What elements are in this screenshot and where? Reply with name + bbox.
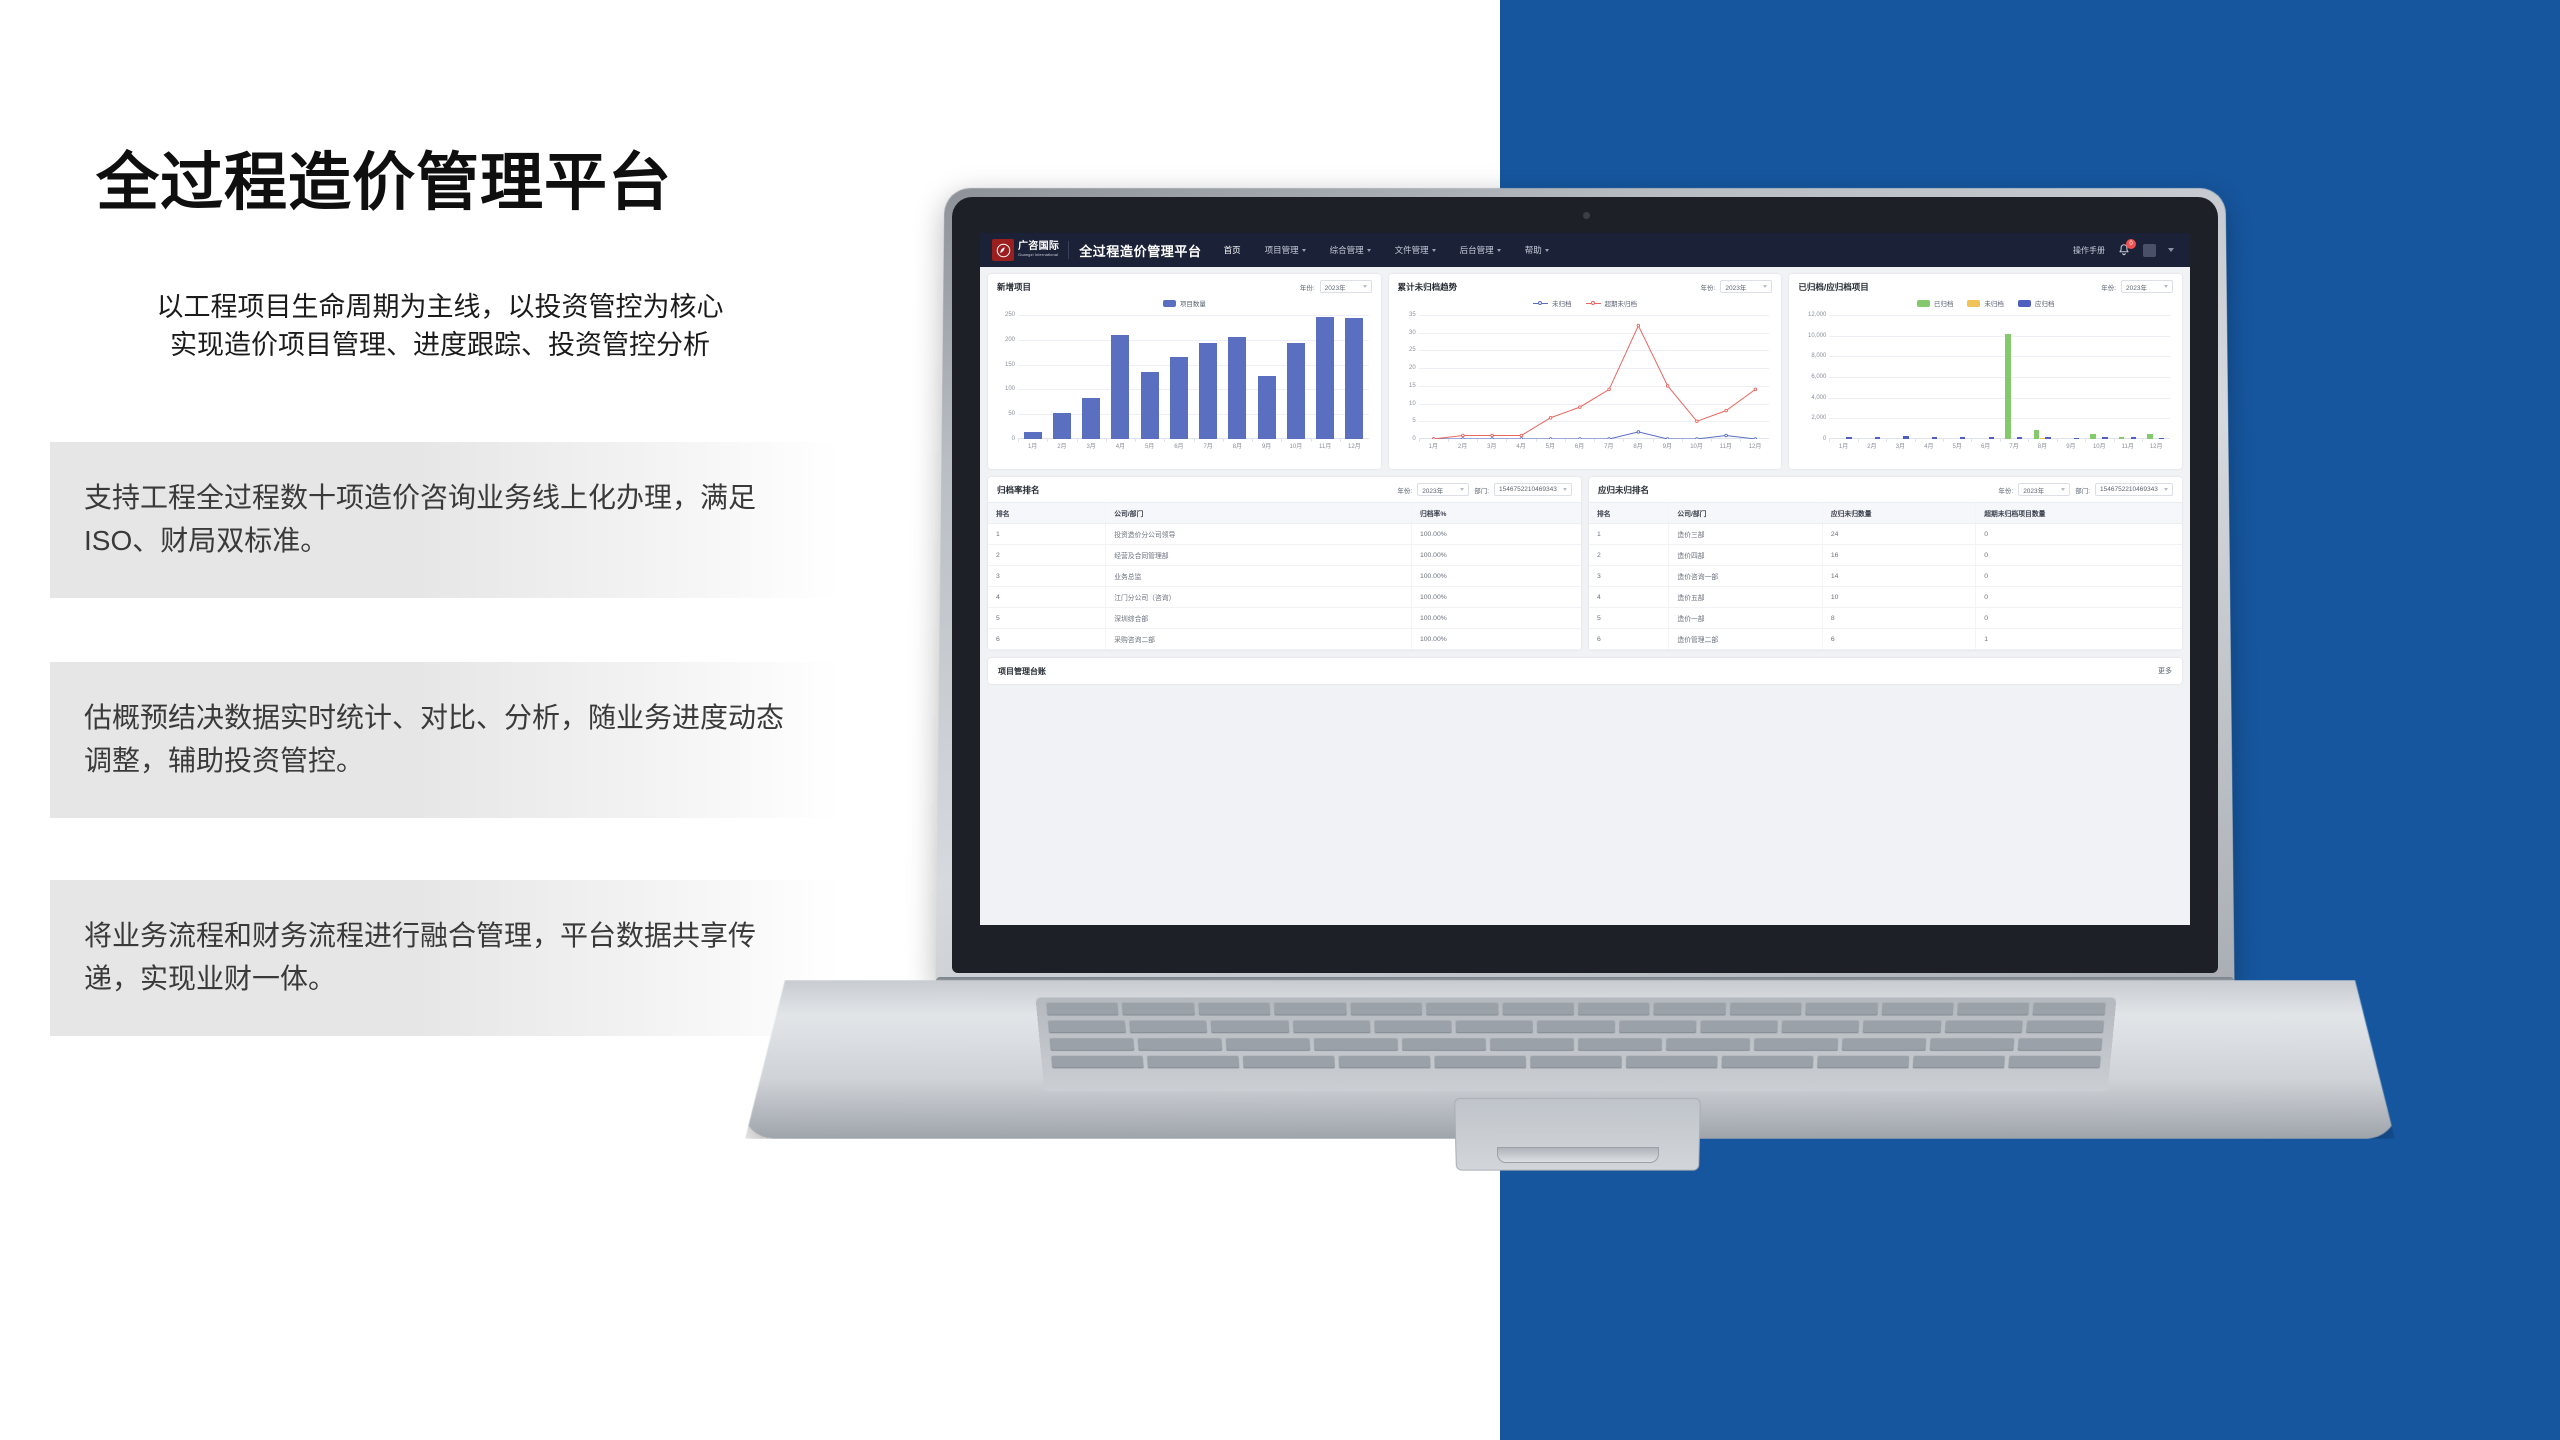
table-cell: 4	[988, 587, 1106, 608]
x-axis-tickmark	[2114, 439, 2115, 442]
x-axis-tickmark	[1915, 439, 1916, 442]
key	[1805, 1003, 1877, 1016]
key	[1274, 1003, 1346, 1016]
x-axis-tick-label: 8月	[1233, 441, 1242, 450]
dept-filter-label: 部门:	[2075, 485, 2090, 495]
table-cell: 24	[1822, 524, 1975, 545]
x-axis-tick-label: 10月	[2093, 441, 2106, 450]
table-row[interactable]: 1造价三部240	[1589, 524, 2182, 545]
nav-item-comprehensive-management[interactable]: 综合管理	[1330, 244, 1371, 256]
bar	[2147, 434, 2152, 439]
notifications-button[interactable]: 0	[2117, 243, 2131, 257]
bar	[2102, 437, 2107, 439]
table-column-header: 排名	[1589, 503, 1669, 524]
x-axis-tick-label: 6月	[1174, 441, 1183, 450]
gridline	[1829, 336, 2170, 337]
x-axis-tickmark	[1106, 439, 1107, 442]
feature-text-3: 将业务流程和财务流程进行融合管理，平台数据共享传递，实现业财一体。	[50, 915, 840, 1000]
x-axis-tick-label: 12月	[2150, 441, 2163, 450]
x-axis-tickmark	[1252, 439, 1253, 442]
y-axis-tick-label: 250	[1005, 312, 1018, 318]
key	[1314, 1038, 1399, 1051]
key	[2018, 1038, 2103, 1051]
table-cell: 江门分公司（咨询）	[1106, 587, 1412, 608]
laptop-mockup: 广咨国际 Guangzi International 全过程造价管理平台 首页 …	[740, 185, 2400, 1245]
notification-count-badge: 0	[2126, 239, 2136, 249]
table-cell: 经营及合同管理部	[1106, 545, 1412, 566]
x-axis-tickmark	[1858, 439, 1859, 442]
table-cell: 1	[988, 524, 1106, 545]
key	[1730, 1003, 1802, 1016]
year-select[interactable]: 2023年	[2018, 483, 2070, 496]
x-axis-tickmark	[1565, 439, 1566, 442]
x-axis-tick-label: 6月	[1981, 441, 1990, 450]
table-cell: 3	[988, 566, 1106, 587]
x-axis-tickmark	[1223, 439, 1224, 442]
table-cell: 5	[988, 608, 1106, 629]
bar	[1989, 437, 1994, 439]
keyboard-row	[1036, 1003, 2116, 1016]
key	[1957, 1003, 2030, 1016]
table-cell: 业务总监	[1106, 566, 1412, 587]
bar	[1875, 437, 1880, 439]
key	[1129, 1020, 1207, 1033]
chevron-down-icon[interactable]	[2168, 248, 2174, 252]
x-axis-tickmark	[1594, 439, 1595, 442]
key	[1147, 1056, 1240, 1069]
keyboard-row	[1038, 1020, 2115, 1033]
dept-select[interactable]: 1546752210469343885	[2095, 483, 2173, 496]
x-axis-tickmark	[1135, 439, 1136, 442]
key	[1456, 1020, 1534, 1033]
legend-item-due-to-archive[interactable]: 应归档	[2018, 298, 2055, 308]
table-cell: 造价咨询一部	[1669, 566, 1822, 587]
dept-select[interactable]: 1546752210469343885	[1494, 483, 1572, 496]
table-cell: 16	[1822, 545, 1975, 566]
table-due-unarchived-ranking: 排名公司/部门应归未归数量超期未归档项目数量1造价三部2402造价四部1603造…	[1589, 502, 2182, 650]
x-axis-tickmark	[1886, 439, 1887, 442]
y-axis-tick-label: 150	[1005, 362, 1018, 368]
key	[1721, 1056, 1813, 1069]
nav-item-home-label: 首页	[1224, 244, 1241, 256]
table-cell: 3	[1589, 566, 1669, 587]
gridline	[1018, 315, 1369, 316]
x-axis-tickmark	[1419, 439, 1420, 442]
table-column-header: 归档率%	[1411, 503, 1581, 524]
card-archived-vs-due-header: 已归档/应归档项目 年份: 2023年	[1789, 274, 2182, 295]
x-axis-tick-label: 10月	[1290, 441, 1303, 450]
table-row[interactable]: 5深圳综合部100.00%	[988, 608, 1581, 629]
x-axis-tickmark	[1047, 439, 1048, 442]
nav-item-help[interactable]: 帮助	[1525, 244, 1549, 256]
key	[1863, 1020, 1941, 1033]
bar	[1345, 318, 1363, 439]
x-axis-tick-label: 10月	[1690, 441, 1703, 450]
brand-divider	[1068, 241, 1069, 259]
nav-item-comprehensive-management-label: 综合管理	[1330, 244, 1364, 256]
table-cell: 造价四部	[1669, 545, 1822, 566]
table-row[interactable]: 6采购咨询二部100.00%	[988, 629, 1581, 650]
key	[1426, 1003, 1498, 1016]
legend-label: 应归档	[2035, 298, 2055, 308]
key	[1046, 1003, 1119, 1016]
key	[1881, 1003, 1954, 1016]
key	[2008, 1056, 2101, 1069]
x-axis-tick-label: 6月	[1575, 441, 1584, 450]
page-title: 全过程造价管理平台	[96, 132, 672, 223]
y-axis-tick-label: 20	[1409, 365, 1419, 371]
x-axis-tickmark	[1018, 439, 1019, 442]
bar	[2074, 438, 2079, 439]
table-cell: 1	[1976, 629, 2182, 650]
x-axis-tickmark	[1943, 439, 1944, 442]
table-cell: 8	[1822, 608, 1975, 629]
y-axis-tick-label: 10,000	[1808, 333, 1829, 339]
chevron-down-icon	[1497, 249, 1501, 252]
card-new-projects: 新增项目 年份: 2023年 项目数量	[988, 274, 1381, 469]
year-filter-label: 年份:	[1397, 485, 1412, 495]
key	[1754, 1038, 1839, 1051]
subtitle-line-2: 实现造价项目管理、进度跟踪、投资管控分析	[60, 326, 820, 364]
x-axis-tickmark	[1311, 439, 1312, 442]
front-notch	[1497, 1147, 1659, 1163]
table-cell: 投资造价分公司领导	[1106, 524, 1412, 545]
x-axis-tickmark	[1077, 439, 1078, 442]
line-chart-unarchived-trend: 051015202530351月2月3月4月5月6月7月8月9月10月11月12…	[1419, 315, 1770, 439]
legend-swatch	[2018, 300, 2031, 307]
bar	[2005, 334, 2010, 439]
chevron-down-icon	[1563, 488, 1567, 491]
key	[1049, 1038, 1134, 1051]
more-link[interactable]: 更多	[2158, 666, 2172, 676]
y-axis-tick-label: 2,000	[1811, 415, 1829, 421]
x-axis-tick-label: 11月	[1319, 441, 1331, 450]
key	[2033, 1003, 2106, 1016]
card-due-unarchived-ranking-header: 应归未归排名 年份: 2023年 部门: 1546752210469343885	[1589, 477, 2182, 502]
card-project-ledger-title: 项目管理台账	[998, 666, 1046, 677]
x-axis-tickmark	[2057, 439, 2058, 442]
card-archived-vs-due-title: 已归档/应归档项目	[1798, 281, 1868, 293]
table-row[interactable]: 2经营及合同管理部100.00%	[988, 545, 1581, 566]
legend-item-unarchived[interactable]: 未归档	[1967, 298, 2004, 308]
table-cell: 6	[1589, 629, 1669, 650]
year-select-value: 2023年	[2023, 485, 2044, 495]
key	[1626, 1056, 1718, 1069]
bar	[2131, 437, 2136, 439]
subtitle-line-1: 以工程项目生命周期为主线，以投资管控为核心	[60, 288, 820, 326]
x-axis-tickmark	[1653, 439, 1654, 442]
legend-label: 未归档	[1552, 298, 1572, 308]
table-cell: 0	[1976, 608, 2182, 629]
keyboard-row	[1041, 1056, 2111, 1069]
table-cell: 6	[1822, 629, 1975, 650]
key	[1292, 1020, 1370, 1033]
table-cell: 4	[1589, 587, 1669, 608]
nav-item-help-label: 帮助	[1525, 244, 1542, 256]
y-axis-tick-label: 8,000	[1811, 353, 1829, 359]
key	[1578, 1038, 1662, 1051]
table-row[interactable]: 1投资造价分公司领导100.00%	[988, 524, 1581, 545]
legend-item-unarchived[interactable]: 未归档	[1533, 298, 1572, 308]
manual-link[interactable]: 操作手册	[2073, 245, 2105, 256]
gridline	[1829, 398, 2170, 399]
x-axis-tick-label: 4月	[1116, 441, 1125, 450]
table-row[interactable]: 2造价四部160	[1589, 545, 2182, 566]
x-axis-tick-label: 5月	[1953, 441, 1962, 450]
bar	[1960, 437, 1965, 439]
feature-text-1: 支持工程全过程数十项造价咨询业务线上化办理，满足ISO、财局双标准。	[50, 477, 840, 562]
year-select[interactable]: 2023年	[1320, 280, 1372, 293]
x-axis-tickmark	[1711, 439, 1712, 442]
x-axis-tick-label: 7月	[1203, 441, 1212, 450]
key	[1578, 1003, 1650, 1016]
legend-item-project-count[interactable]: 项目数量	[1163, 298, 1206, 308]
key	[1338, 1056, 1430, 1069]
key	[1048, 1020, 1127, 1033]
legend-item-overdue-unarchived[interactable]: 超期未归档	[1586, 298, 1638, 308]
x-axis-tick-label: 12月	[1348, 441, 1361, 450]
year-select[interactable]: 2023年	[2121, 280, 2173, 293]
table-cell: 0	[1976, 587, 2182, 608]
legend-label: 超期未归档	[1605, 298, 1638, 308]
bar-chart-new-projects: 0501001502002501月2月3月4月5月6月7月8月9月10月11月1…	[1018, 315, 1369, 439]
card-archive-rate-ranking-header: 归档率排名 年份: 2023年 部门: 1546752210469343885	[988, 477, 1581, 502]
x-axis-tick-label: 4月	[1516, 441, 1525, 450]
card-archived-vs-due: 已归档/应归档项目 年份: 2023年 已归档	[1789, 274, 2182, 469]
nav-item-backend-management[interactable]: 后台管理	[1460, 244, 1501, 256]
key	[2026, 1020, 2105, 1033]
table-cell: 0	[1976, 545, 2182, 566]
brand-name-en: Guangzi International	[1018, 253, 1059, 257]
y-axis-tick-label: 200	[1005, 337, 1018, 343]
x-axis-tickmark	[1164, 439, 1165, 442]
bar	[1287, 343, 1305, 439]
table-cell: 2	[1589, 545, 1669, 566]
nav-item-project-management[interactable]: 项目管理	[1265, 244, 1306, 256]
legend-swatch	[1967, 300, 1980, 307]
legend-label: 未归档	[1984, 298, 2004, 308]
bar	[2090, 434, 2095, 439]
dept-select-value: 1546752210469343885	[2100, 486, 2158, 493]
y-axis-tick-label: 100	[1005, 386, 1018, 392]
card-new-projects-filters: 年份: 2023年	[1300, 280, 1372, 293]
table-cell: 100.00%	[1411, 566, 1581, 587]
key	[1913, 1056, 2006, 1069]
x-axis-tick-label: 5月	[1546, 441, 1555, 450]
keyboard-row	[1039, 1038, 2112, 1051]
app-navbar: 广咨国际 Guangzi International 全过程造价管理平台 首页 …	[980, 233, 2190, 267]
keyboard	[1036, 998, 2117, 1092]
bar	[2034, 430, 2039, 439]
legend-label: 项目数量	[1180, 298, 1206, 308]
chevron-down-icon	[1432, 249, 1436, 252]
table-cell: 6	[988, 629, 1106, 650]
card-unarchived-trend-header: 累计未归档趋势 年份: 2023年	[1389, 274, 1782, 295]
chevron-down-icon	[1367, 249, 1371, 252]
webcam-icon	[1583, 212, 1590, 219]
card-archive-rate-ranking-title: 归档率排名	[997, 484, 1040, 496]
x-axis-tick-label: 1月	[1429, 441, 1438, 450]
chevron-down-icon	[1302, 249, 1306, 252]
card-unarchived-trend-legend: 未归档 超期未归档	[1389, 295, 1782, 309]
gridline	[1829, 377, 2170, 378]
bar-chart-archived-vs-due: 02,0004,0006,0008,00010,00012,0001月2月3月4…	[1829, 315, 2170, 439]
year-select-value: 2023年	[1422, 485, 1443, 495]
table-row[interactable]: 5造价一部80	[1589, 608, 2182, 629]
nav-item-file-management[interactable]: 文件管理	[1395, 244, 1436, 256]
bar	[1258, 376, 1276, 439]
key	[1350, 1003, 1422, 1016]
table-cell: 5	[1589, 608, 1669, 629]
table-row[interactable]: 3业务总监100.00%	[988, 566, 1581, 587]
navbar-right-group: 操作手册 0	[2073, 243, 2178, 257]
x-axis-tick-label: 7月	[1604, 441, 1613, 450]
dashboard-body: 新增项目 年份: 2023年 项目数量	[980, 267, 2190, 691]
y-axis-tick-label: 15	[1409, 383, 1419, 389]
app-screen: 广咨国际 Guangzi International 全过程造价管理平台 首页 …	[980, 233, 2190, 925]
bar	[2045, 437, 2050, 439]
gridline	[1829, 315, 2170, 316]
table-header-row: 排名公司/部门应归未归数量超期未归档项目数量	[1589, 503, 2182, 524]
key	[1198, 1003, 1271, 1016]
x-axis-tickmark	[2000, 439, 2001, 442]
x-axis-tickmark	[1281, 439, 1282, 442]
x-axis-tickmark	[1623, 439, 1624, 442]
nav-item-backend-management-label: 后台管理	[1460, 244, 1494, 256]
x-axis-tick-label: 11月	[2122, 441, 2134, 450]
table-cell: 100.00%	[1411, 587, 1581, 608]
table-cell: 100.00%	[1411, 608, 1581, 629]
key	[1374, 1020, 1452, 1033]
table-cell: 14	[1822, 566, 1975, 587]
year-filter-label: 年份:	[1701, 282, 1716, 292]
card-new-projects-legend: 项目数量	[988, 295, 1381, 309]
card-unarchived-trend-filters: 年份: 2023年	[1701, 280, 1773, 293]
key	[1490, 1038, 1574, 1051]
x-axis-tick-label: 2月	[1867, 441, 1876, 450]
table-row[interactable]: 6造价管理二部61	[1589, 629, 2182, 650]
key	[1211, 1020, 1289, 1033]
table-cell: 造价一部	[1669, 608, 1822, 629]
key	[1502, 1003, 1574, 1016]
bar	[2119, 437, 2124, 439]
x-axis-tick-label: 4月	[1924, 441, 1933, 450]
card-due-unarchived-ranking: 应归未归排名 年份: 2023年 部门: 1546752210469343885	[1589, 477, 2182, 650]
line-series-group	[1419, 315, 1770, 439]
x-axis-tick-label: 12月	[1749, 441, 1762, 450]
key	[1122, 1003, 1195, 1016]
seal-logo-icon	[992, 239, 1014, 261]
x-axis-tickmark	[1448, 439, 1449, 442]
nav-item-home[interactable]: 首页	[1224, 244, 1241, 256]
x-axis-tickmark	[1682, 439, 1683, 442]
year-select-value: 2023年	[2126, 282, 2147, 292]
card-due-unarchived-ranking-title: 应归未归排名	[1598, 484, 1649, 496]
x-axis-tick-label: 9月	[1262, 441, 1271, 450]
key	[1817, 1056, 1909, 1069]
chevron-down-icon	[1363, 285, 1367, 288]
x-axis-tick-label: 3月	[1487, 441, 1496, 450]
chevron-down-icon	[2061, 488, 2065, 491]
table-cell: 0	[1976, 566, 2182, 587]
x-axis-tick-label: 2月	[1057, 441, 1066, 450]
table-column-header: 公司/部门	[1106, 503, 1412, 524]
key	[1051, 1056, 1144, 1069]
bar	[1082, 398, 1100, 439]
key	[1782, 1020, 1860, 1033]
x-axis-tickmark	[2142, 439, 2143, 442]
key	[1537, 1020, 1615, 1033]
card-unarchived-trend-title: 累计未归档趋势	[1398, 281, 1458, 293]
key	[1930, 1038, 2015, 1051]
bar	[2040, 438, 2045, 439]
x-axis-tick-label: 2月	[1458, 441, 1467, 450]
y-axis-tick-label: 25	[1409, 347, 1419, 353]
y-axis-tick-label: 12,000	[1808, 312, 1829, 318]
key	[1243, 1056, 1335, 1069]
bar	[1111, 335, 1129, 439]
table-archive-rate-ranking: 排名公司/部门归档率%1投资造价分公司领导100.00%2经营及合同管理部100…	[988, 502, 1581, 650]
card-new-projects-header: 新增项目 年份: 2023年	[988, 274, 1381, 295]
nav-item-project-management-label: 项目管理	[1265, 244, 1299, 256]
legend-item-archived[interactable]: 已归档	[1917, 298, 1954, 308]
card-unarchived-trend: 累计未归档趋势 年份: 2023年	[1389, 274, 1782, 469]
feature-card-3: 将业务流程和财务流程进行融合管理，平台数据共享传递，实现业财一体。	[50, 880, 840, 1036]
x-axis-tickmark	[1477, 439, 1478, 442]
x-axis-tick-label: 3月	[1896, 441, 1905, 450]
y-axis-tick-label: 50	[1008, 411, 1018, 417]
key	[1402, 1038, 1486, 1051]
card-new-projects-title: 新增项目	[997, 281, 1031, 293]
feature-card-1: 支持工程全过程数十项造价咨询业务线上化办理，满足ISO、财局双标准。	[50, 442, 840, 598]
x-axis-tick-label: 1月	[1839, 441, 1848, 450]
year-filter-label: 年份:	[2101, 282, 2116, 292]
year-select[interactable]: 2023年	[1720, 280, 1772, 293]
gridline	[1829, 418, 2170, 419]
y-axis-tick-label: 6,000	[1811, 374, 1829, 380]
x-axis-tick-label: 8月	[1633, 441, 1642, 450]
card-project-ledger: 项目管理台账 更多	[988, 658, 2182, 684]
feature-card-2: 估概预结决数据实时统计、对比、分析，随业务进度动态调整，辅助投资管控。	[50, 662, 840, 818]
bar	[1141, 372, 1159, 439]
year-select[interactable]: 2023年	[1417, 483, 1469, 496]
bar	[1932, 437, 1937, 439]
table-row[interactable]: 4造价五部100	[1589, 587, 2182, 608]
dept-select-value: 1546752210469343885	[1499, 486, 1557, 493]
year-select-value: 2023年	[1325, 282, 1346, 292]
gridline	[1829, 356, 2170, 357]
x-axis-tick-label: 11月	[1720, 441, 1732, 450]
x-axis-tick-label: 9月	[1663, 441, 1672, 450]
bar	[1316, 317, 1334, 439]
x-axis-tickmark	[1506, 439, 1507, 442]
table-row[interactable]: 4江门分公司（咨询）100.00%	[988, 587, 1581, 608]
table-row[interactable]: 3造价咨询一部140	[1589, 566, 2182, 587]
key	[1700, 1020, 1778, 1033]
card-due-unarchived-ranking-filters: 年份: 2023年 部门: 1546752210469343885	[1998, 483, 2173, 496]
y-axis-tick-label: 30	[1409, 330, 1419, 336]
card-archive-rate-ranking: 归档率排名 年份: 2023年 部门: 1546752210469343885	[988, 477, 1581, 650]
table-cell: 10	[1822, 587, 1975, 608]
key	[1944, 1020, 2022, 1033]
bar	[1228, 337, 1246, 439]
avatar[interactable]	[2143, 244, 2156, 257]
table-cell: 采购咨询二部	[1106, 629, 1412, 650]
x-axis-tick-label: 5月	[1145, 441, 1154, 450]
table-cell: 100.00%	[1411, 629, 1581, 650]
table-cell: 100.00%	[1411, 545, 1581, 566]
legend-swatch	[1917, 300, 1930, 307]
